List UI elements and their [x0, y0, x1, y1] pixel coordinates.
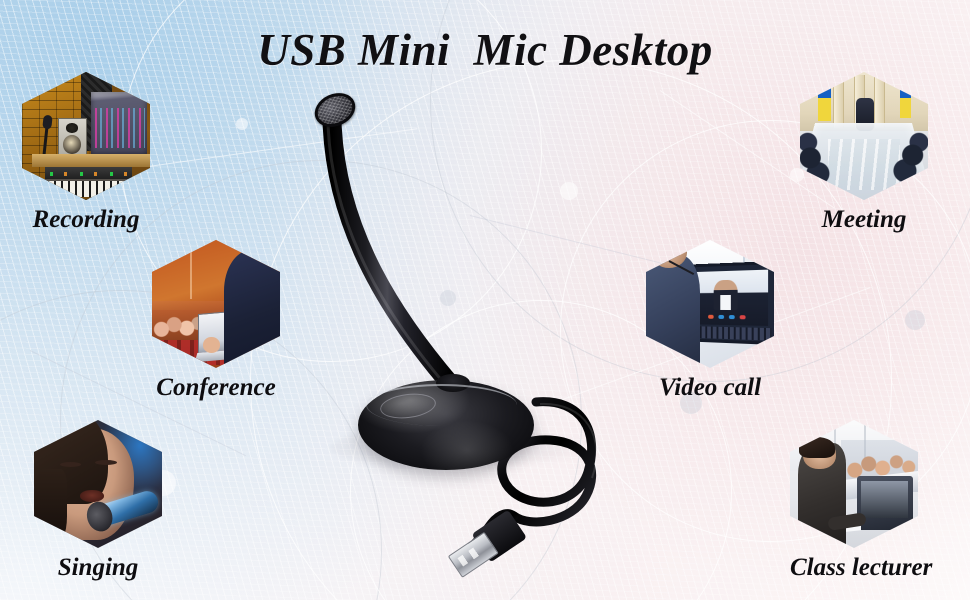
microphone-neck	[300, 80, 640, 600]
page-title: USB Mini Mic Desktop	[0, 24, 970, 76]
meeting-image	[800, 72, 928, 200]
use-case-label-singing: Singing	[34, 554, 162, 582]
product-banner: USB Mini Mic Desktop Recording	[0, 0, 970, 600]
use-case-video-call[interactable]: Video call	[646, 240, 774, 402]
use-case-conference[interactable]: Conference	[152, 240, 280, 402]
use-case-recording[interactable]: Recording	[22, 72, 150, 234]
use-case-singing[interactable]: Singing	[34, 420, 162, 582]
class-lecturer-image	[790, 420, 918, 548]
gooseneck-path	[332, 122, 452, 386]
singing-image	[34, 420, 162, 548]
use-case-meeting[interactable]: Meeting	[800, 72, 928, 234]
use-case-label-video-call: Video call	[646, 374, 774, 402]
use-case-label-meeting: Meeting	[800, 206, 928, 234]
video-call-image	[646, 240, 774, 368]
use-case-class-lecturer[interactable]: Class lecturer	[790, 420, 918, 582]
use-case-label-conference: Conference	[152, 374, 280, 402]
use-case-label-class-lecturer: Class lecturer	[790, 554, 918, 582]
microphone-base	[358, 380, 534, 470]
recording-image	[22, 72, 150, 200]
product-microphone	[300, 80, 640, 600]
conference-image	[152, 240, 280, 368]
use-case-label-recording: Recording	[22, 206, 150, 234]
